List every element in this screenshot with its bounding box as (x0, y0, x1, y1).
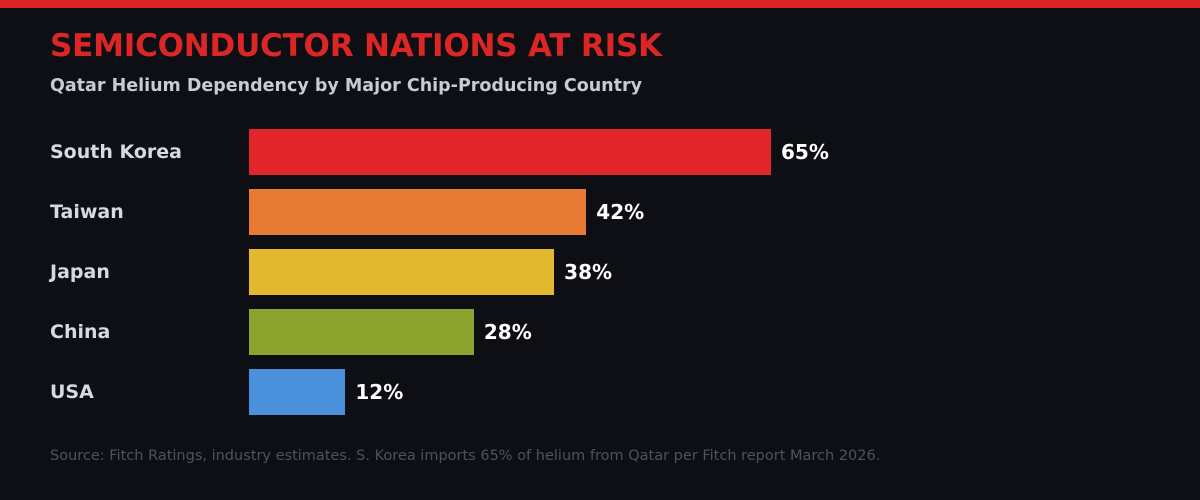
bar-category-label: Japan (50, 249, 110, 295)
bar-category-label: China (50, 309, 110, 355)
bar-value-label: 38% (564, 249, 612, 295)
bar-category-label: USA (50, 369, 94, 415)
chart-canvas: SEMICONDUCTOR NATIONS AT RISK Qatar Heli… (0, 0, 1200, 500)
bar-track: 38% (249, 249, 1200, 295)
bar-fill (249, 309, 474, 355)
bar-value-label: 12% (355, 369, 403, 415)
chart-title: SEMICONDUCTOR NATIONS AT RISK (50, 28, 662, 64)
source-note: Source: Fitch Ratings, industry estimate… (50, 448, 880, 464)
bar-row: South Korea65% (0, 129, 1200, 175)
bar-category-label: Taiwan (50, 189, 124, 235)
bar-fill (249, 189, 586, 235)
bar-value-label: 28% (484, 309, 532, 355)
bar-value-label: 65% (781, 129, 829, 175)
bar-track: 65% (249, 129, 1200, 175)
bar-value-label: 42% (596, 189, 644, 235)
bar-track: 28% (249, 309, 1200, 355)
bar-row: Japan38% (0, 249, 1200, 295)
bar-row: China28% (0, 309, 1200, 355)
top-accent-stripe (0, 0, 1200, 8)
bar-fill (249, 129, 771, 175)
bar-row: Taiwan42% (0, 189, 1200, 235)
chart-subtitle: Qatar Helium Dependency by Major Chip-Pr… (50, 76, 642, 96)
bar-chart-plot-area: South Korea65%Taiwan42%Japan38%China28%U… (0, 129, 1200, 429)
bar-fill (249, 249, 554, 295)
bar-track: 42% (249, 189, 1200, 235)
bar-fill (249, 369, 345, 415)
bar-row: USA12% (0, 369, 1200, 415)
bar-track: 12% (249, 369, 1200, 415)
bar-category-label: South Korea (50, 129, 182, 175)
